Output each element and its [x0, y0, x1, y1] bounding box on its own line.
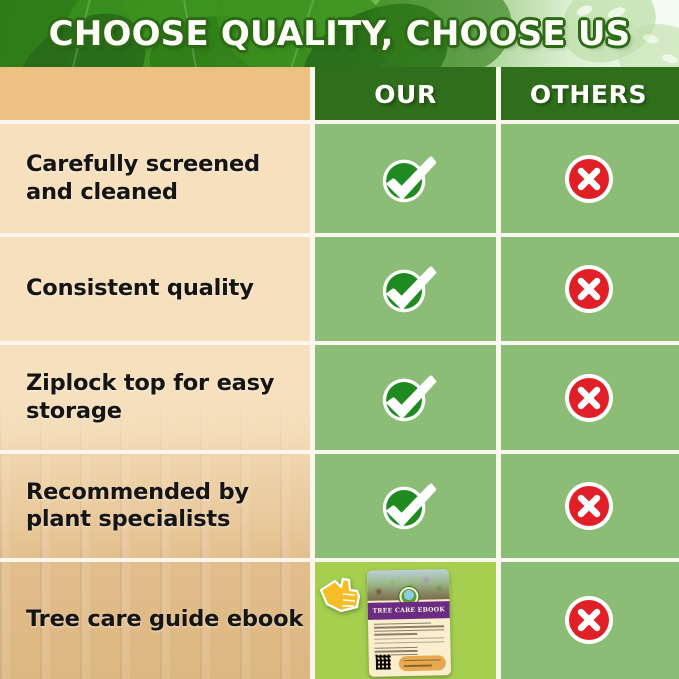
row-label: Recommended by plant specialists — [26, 479, 313, 534]
header-others-label: OTHERS — [530, 80, 647, 109]
comparison-infographic: CHOOSE QUALITY, CHOOSE US OUR OTHERS Car… — [0, 0, 679, 679]
table-row: Recommended by plant specialists — [0, 452, 679, 560]
grid-line-horizontal — [0, 558, 679, 562]
grid-line-horizontal — [0, 450, 679, 454]
row-label-cell: Consistent quality — [0, 235, 313, 343]
grid-line-horizontal — [0, 120, 679, 124]
ebook-body-text — [374, 622, 445, 658]
ebook-title-banner: TREE CARE EBOOK — [368, 601, 450, 620]
cross-icon — [563, 372, 615, 424]
header-cell-our: OUR — [313, 67, 498, 122]
row-others-cell — [498, 452, 679, 560]
row-label: Ziplock top for easy storage — [26, 370, 313, 425]
row-label-cell: Carefully screened and cleaned — [0, 122, 313, 235]
qr-code — [376, 654, 391, 669]
row-our-cell-ebook[interactable]: TREE CARE EBOOK — [313, 560, 498, 679]
table-row: Carefully screened and cleaned — [0, 122, 679, 235]
check-icon — [375, 148, 437, 210]
row-label: Tree care guide ebook — [26, 606, 303, 633]
table-header-row: OUR OTHERS — [0, 67, 679, 122]
cross-icon — [563, 263, 615, 315]
check-icon — [375, 258, 437, 320]
grid-line-vertical — [496, 67, 501, 679]
table-row-ebook: Tree care guide ebook TREE CARE EBOOK — [0, 560, 679, 679]
table-row: Ziplock top for easy storage — [0, 343, 679, 452]
row-label: Carefully screened and cleaned — [26, 151, 313, 206]
page-title: CHOOSE QUALITY, CHOOSE US — [0, 0, 679, 67]
cross-icon — [563, 153, 615, 205]
row-others-cell — [498, 122, 679, 235]
header-cell-feature — [0, 67, 313, 122]
row-label-cell: Recommended by plant specialists — [0, 452, 313, 560]
ebook-thumbnail[interactable]: TREE CARE EBOOK — [367, 569, 451, 677]
table-row: Consistent quality — [0, 235, 679, 343]
row-others-cell — [498, 235, 679, 343]
row-our-cell — [313, 343, 498, 452]
check-icon — [375, 475, 437, 537]
row-label-cell: Ziplock top for easy storage — [0, 343, 313, 452]
header-banner: CHOOSE QUALITY, CHOOSE US — [0, 0, 679, 67]
row-others-cell — [498, 343, 679, 452]
ebook-title: TREE CARE EBOOK — [373, 606, 445, 615]
header-cell-others: OTHERS — [498, 67, 679, 122]
grid-line-horizontal — [0, 233, 679, 237]
row-our-cell — [313, 122, 498, 235]
row-our-cell — [313, 452, 498, 560]
row-our-cell — [313, 235, 498, 343]
header-our-label: OUR — [374, 80, 437, 109]
grid-line-vertical — [310, 67, 315, 679]
row-others-cell — [498, 560, 679, 679]
ebook-footer-note — [399, 655, 446, 671]
comparison-table: OUR OTHERS Carefully screened and cleane… — [0, 67, 679, 679]
cross-icon — [563, 594, 615, 646]
grid-line-horizontal — [0, 341, 679, 345]
row-label: Consistent quality — [26, 275, 254, 302]
check-icon — [375, 367, 437, 429]
row-label-cell: Tree care guide ebook — [0, 560, 313, 679]
pointing-hand-cursor-icon — [319, 574, 365, 614]
cross-icon — [563, 480, 615, 532]
